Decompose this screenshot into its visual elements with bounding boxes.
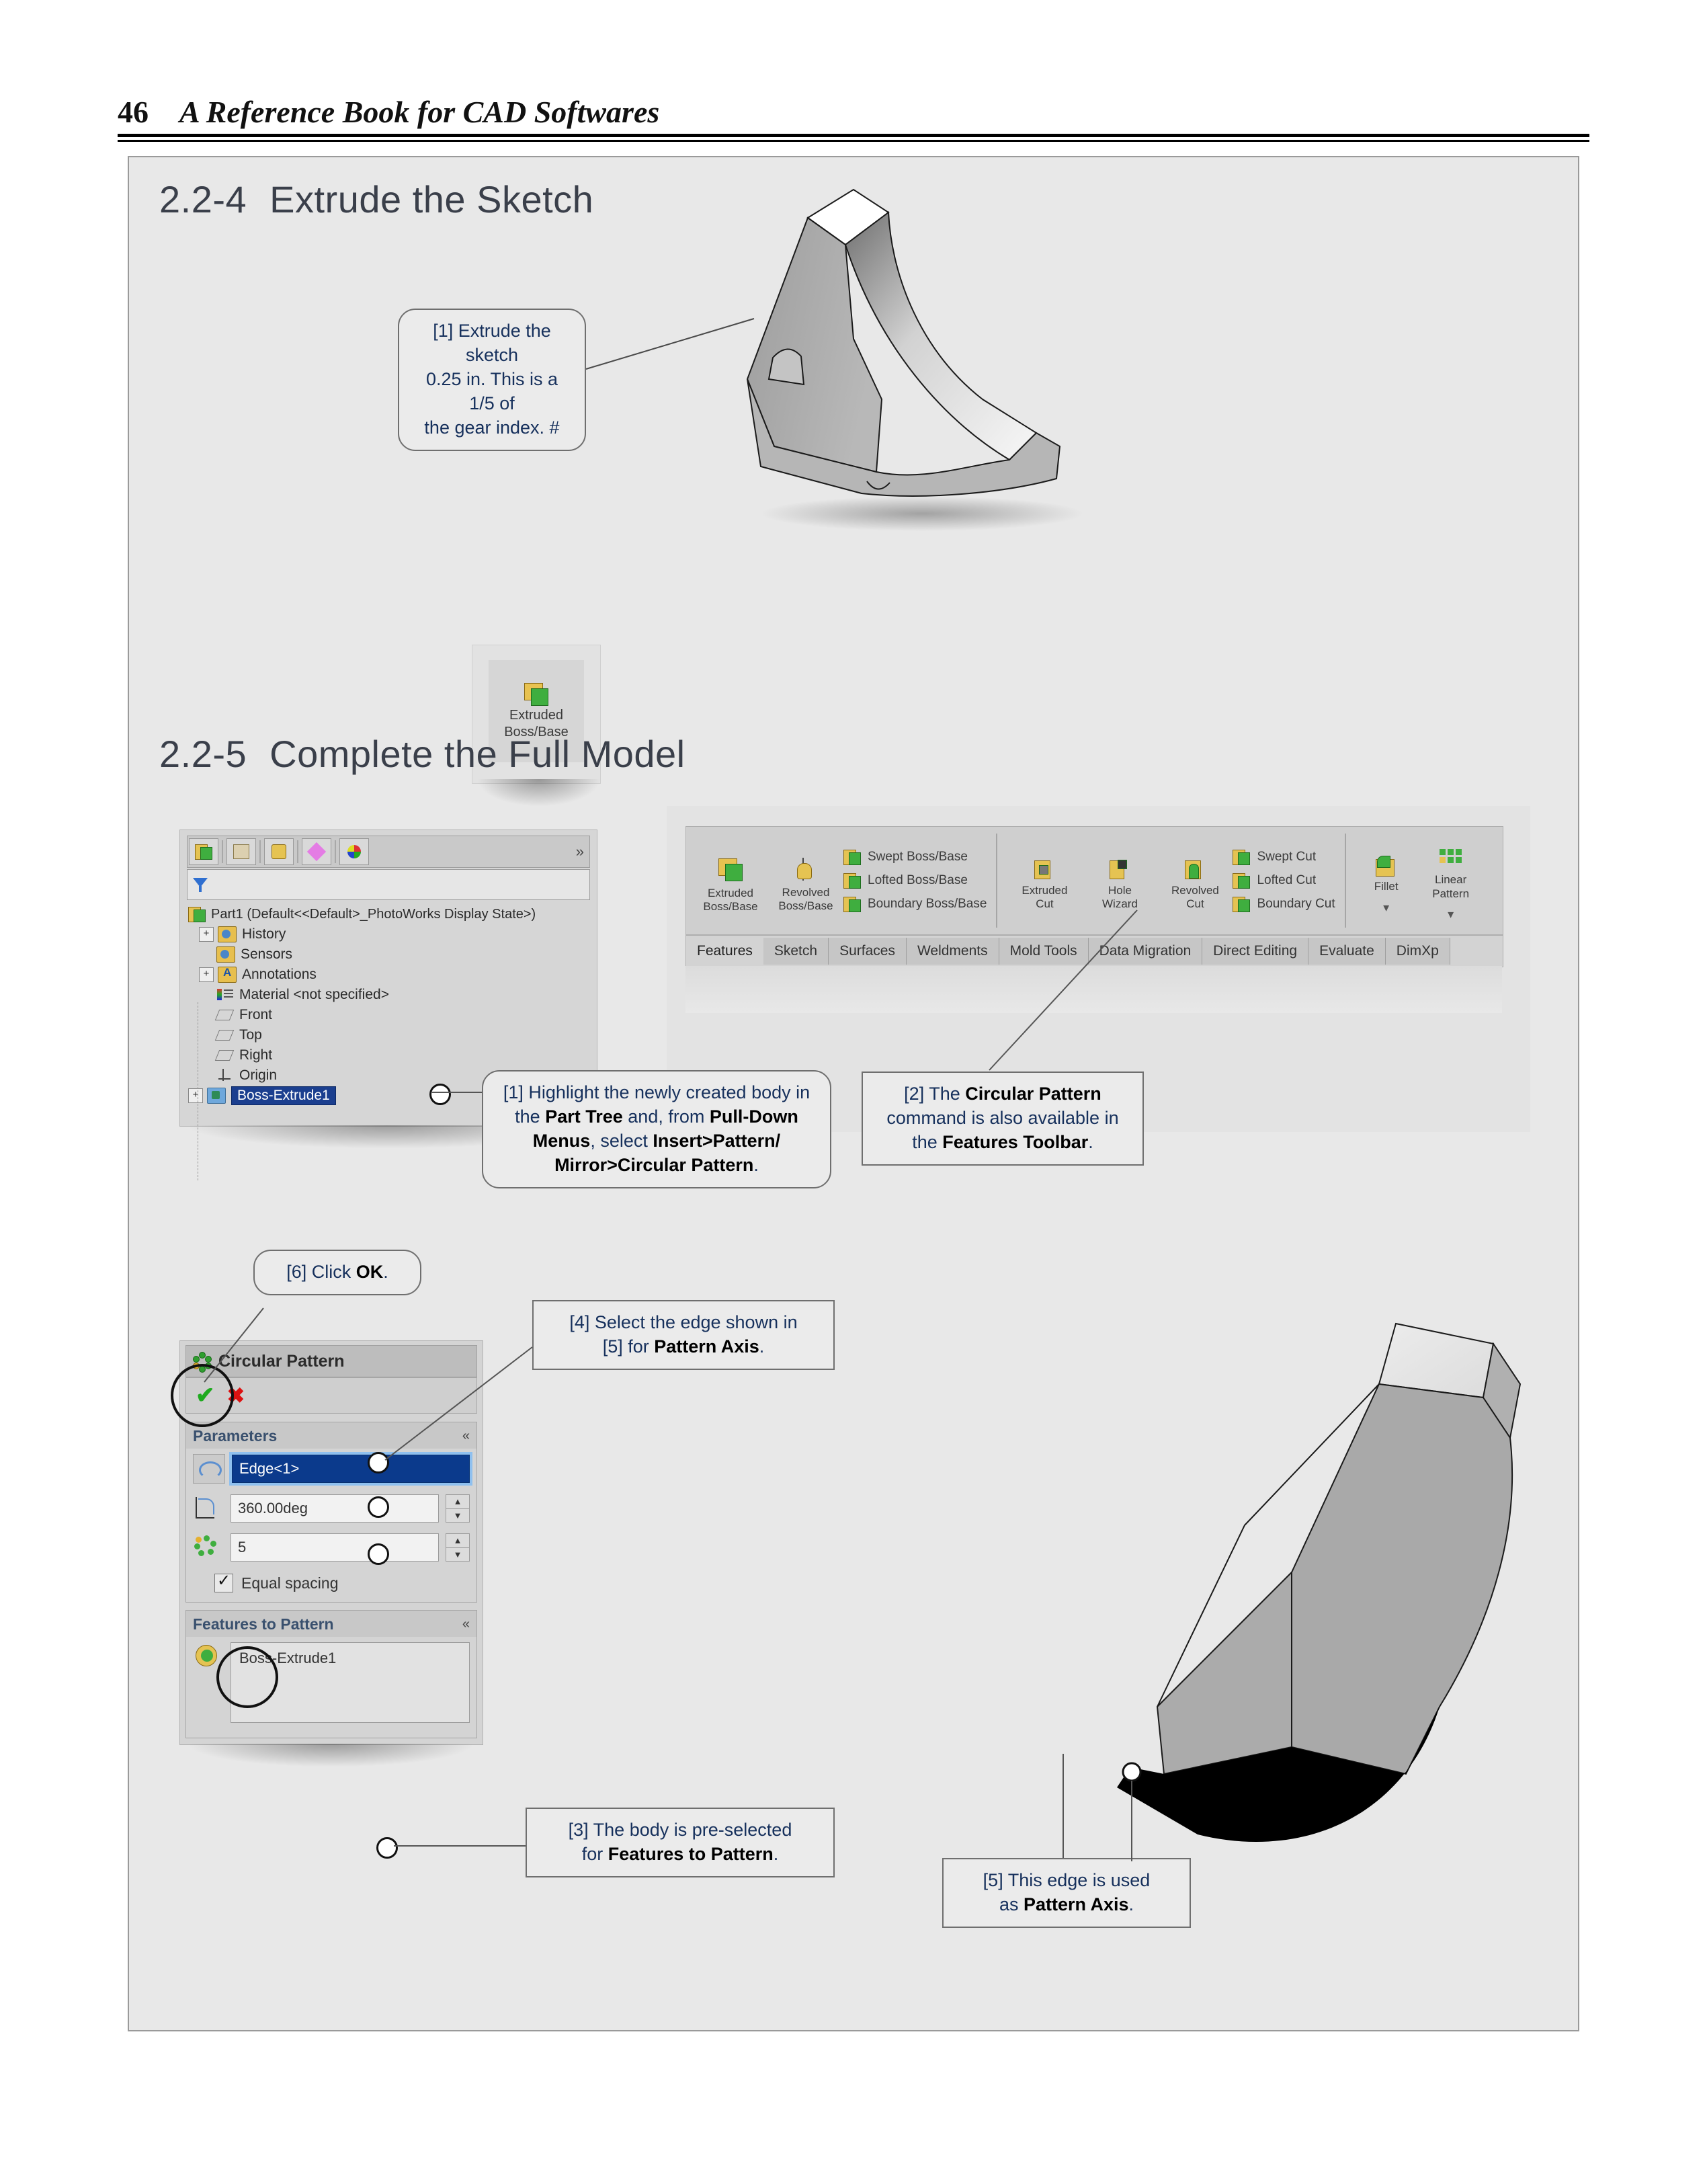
tree-root-label: Part1 (Default<<Default>_PhotoWorks Disp… [211, 907, 536, 922]
ribbon-lofted-boss-base[interactable]: Lofted Boss/Base [843, 873, 987, 889]
tree-item-label: Material <not specified> [239, 987, 389, 1003]
ribbon-label-2: Cut [1186, 897, 1204, 910]
hotspot-feature-item [376, 1837, 398, 1859]
ribbon-label-1: Hole [1108, 884, 1132, 897]
page-number: 46 [118, 94, 149, 130]
instances-row[interactable]: 5 ▲▼ [186, 1528, 476, 1567]
tree-item-label: Origin [239, 1067, 277, 1084]
ribbon-revolved-boss-base[interactable]: Revolved Boss/Base [768, 848, 843, 914]
equal-spacing-label: Equal spacing [241, 1574, 339, 1592]
pattern-axis-row[interactable]: Edge<1> [186, 1449, 476, 1489]
angle-field[interactable]: 360.00deg [231, 1494, 439, 1523]
boss-extrude-icon [207, 1088, 226, 1104]
ribbon-small-column-boss: Swept Boss/Base Lofted Boss/Base Boundar… [843, 845, 987, 917]
feature-tree-filter[interactable] [187, 869, 590, 900]
hotspot-angle-field [368, 1496, 389, 1518]
ribbon-swept-cut[interactable]: Swept Cut [1233, 849, 1335, 866]
fillet-icon [1376, 856, 1397, 876]
extruded-boss-base-icon [717, 857, 744, 883]
property-manager-title: Circular Pattern [218, 1352, 345, 1371]
header-rule [118, 134, 1589, 142]
section-number: 2.2-4 [159, 178, 247, 220]
tab-data-migration[interactable]: Data Migration [1089, 938, 1203, 965]
section-title-2: Complete the Full Model [269, 733, 685, 775]
ribbon-label-1: Extruded [1022, 884, 1067, 897]
ribbon-extruded-cut[interactable]: Extruded Cut [1007, 850, 1082, 912]
dimxpert-icon[interactable] [302, 838, 331, 865]
page-header: 46 A Reference Book for CAD Softwares [118, 94, 1589, 142]
callout-line: [1] Highlight the newly created body in [503, 1082, 810, 1102]
callout-line-2: 0.25 in. This is a 1/5 of [411, 368, 573, 416]
hotspot-boss-extrude1 [429, 1084, 451, 1105]
tree-item-label: Annotations [242, 967, 317, 983]
instances-field[interactable]: 5 [231, 1533, 439, 1562]
tree-item-sensors[interactable]: Sensors [199, 944, 591, 965]
equal-spacing-row[interactable]: Equal spacing [186, 1567, 476, 1601]
ribbon-label-2: Boss/Base [703, 900, 757, 913]
collapse-caret-icon-2[interactable]: « [462, 1617, 470, 1632]
ribbon-group-boss: Extruded Boss/Base Revolved Boss/Base [686, 827, 993, 934]
parameters-section-header[interactable]: Parameters « [185, 1422, 477, 1450]
display-manager-icon[interactable] [339, 838, 369, 865]
tab-dimxpert[interactable]: DimXp [1386, 938, 1450, 965]
lofted-boss-base-icon [843, 873, 861, 889]
part-icon [188, 906, 206, 923]
tree-item-annotations[interactable]: + Annotations [199, 965, 591, 985]
ribbon-small-label: Lofted Boss/Base [868, 873, 968, 888]
callout-line: command is also available in [875, 1106, 1130, 1131]
tab-features[interactable]: Features [686, 938, 763, 965]
ribbon-group-pattern: Fillet ▾ Linear Pattern ▾ [1349, 827, 1491, 934]
tree-item-history[interactable]: + History [199, 924, 591, 944]
model-extruded-gear-tooth [720, 177, 1137, 540]
ribbon-small-label: Lofted Cut [1257, 873, 1316, 888]
angle-row[interactable]: 360.00deg ▲▼ [186, 1489, 476, 1528]
callout-select-edge: [4] Select the edge shown in [5] for Pat… [532, 1300, 835, 1370]
tree-item-label: Right [239, 1047, 272, 1063]
callout-line-1: [1] Extrude the sketch [411, 319, 573, 368]
ribbon-shadow-fade [685, 966, 1502, 1013]
section-heading-extrude: 2.2-4Extrude the Sketch [159, 177, 593, 221]
tree-item-label: History [242, 926, 286, 942]
annotations-folder-icon [218, 967, 237, 983]
swept-cut-icon [1233, 849, 1250, 866]
extruded-cut-icon [1034, 860, 1054, 880]
tab-direct-editing[interactable]: Direct Editing [1202, 938, 1308, 965]
tab-surfaces[interactable]: Surfaces [829, 938, 907, 965]
tree-connector-line [198, 1002, 199, 1180]
book-title: A Reference Book for CAD Softwares [179, 94, 659, 130]
parameters-section-body[interactable]: Edge<1> 360.00deg ▲▼ 5 [185, 1449, 477, 1603]
ribbon-label-1: Revolved [782, 886, 830, 899]
ribbon-group-cut: Extruded Cut Hole Wizard Revolved Cut [1000, 827, 1341, 934]
header-row: 46 A Reference Book for CAD Softwares [118, 94, 1589, 130]
ribbon-small-label: Swept Boss/Base [868, 850, 968, 864]
ribbon-label-2: Wizard [1102, 897, 1138, 910]
tab-mold-tools[interactable]: Mold Tools [999, 938, 1089, 965]
callout-highlight-body: [1] Highlight the newly created body in … [482, 1070, 831, 1188]
ribbon-swept-boss-base[interactable]: Swept Boss/Base [843, 849, 987, 866]
plane-icon [216, 1008, 234, 1022]
collapse-caret-icon[interactable]: « [462, 1428, 470, 1444]
plane-icon [216, 1048, 234, 1063]
expand-icon-annotations[interactable]: + [199, 967, 214, 982]
expand-icon-boss-extrude[interactable]: + [188, 1088, 203, 1103]
ribbon-hole-wizard[interactable]: Hole Wizard [1082, 850, 1157, 912]
tree-item-material[interactable]: Material <not specified> [199, 985, 591, 1005]
filter-icon [190, 875, 210, 895]
equal-spacing-checkbox[interactable] [214, 1574, 233, 1592]
hotspot-instances-field [368, 1543, 389, 1565]
ribbon-boundary-boss-base[interactable]: Boundary Boss/Base [843, 896, 987, 913]
features-to-pattern-title: Features to Pattern [193, 1615, 334, 1633]
tree-item-right[interactable]: Right [199, 1045, 591, 1065]
callout-body-preselected: [3] The body is pre-selected for Feature… [526, 1808, 835, 1877]
ribbon-label-1: Extruded [708, 887, 753, 899]
highlight-circle-ok-button [171, 1364, 234, 1427]
boundary-boss-base-icon [843, 896, 861, 913]
toolbar-separator-4 [335, 840, 336, 863]
callout-line: [4] Select the edge shown in [546, 1311, 821, 1335]
extruded-boss-base-icon [523, 682, 550, 707]
fillet-dropdown-icon[interactable]: ▾ [1383, 901, 1389, 915]
pattern-axis-field[interactable]: Edge<1> [232, 1455, 470, 1483]
expand-icon-history[interactable]: + [199, 927, 214, 942]
ribbon-label-1: Fillet [1374, 880, 1399, 893]
hotspot-pattern-axis-field [368, 1452, 389, 1473]
ribbon-separator-1 [996, 834, 997, 928]
ribbon-tab-bar[interactable]: Features Sketch Surfaces Weldments Mold … [685, 935, 1503, 967]
section-title: Extrude the Sketch [269, 178, 593, 220]
callout-circular-pattern-toolbar: [2] The Circular Pattern command is also… [862, 1071, 1144, 1166]
callout-line: [5] This edge is used [956, 1869, 1177, 1893]
tab-weldments[interactable]: Weldments [907, 938, 999, 965]
ribbon-boundary-cut[interactable]: Boundary Cut [1233, 896, 1335, 913]
boundary-cut-icon [1233, 896, 1250, 913]
tree-item-label-selected: Boss-Extrude1 [231, 1086, 336, 1105]
ribbon-small-label: Boundary Cut [1257, 897, 1335, 912]
ribbon-small-label: Swept Cut [1257, 850, 1316, 864]
ribbon-fillet[interactable]: Fillet ▾ [1356, 846, 1417, 914]
tree-root-item[interactable]: Part1 (Default<<Default>_PhotoWorks Disp… [188, 904, 591, 924]
ribbon-label-1: Linear [1435, 873, 1466, 886]
revolved-cut-icon [1185, 860, 1205, 880]
angle-icon [193, 1494, 224, 1523]
tree-item-label: Front [239, 1007, 272, 1023]
hole-wizard-icon [1110, 860, 1130, 880]
extrude-button-shadow [478, 779, 599, 806]
content-frame: 2.2-4Extrude the Sketch [1] Extr [128, 156, 1579, 2031]
pattern-axis-icon [193, 1454, 225, 1484]
ribbon-label-2: Boss/Base [778, 899, 833, 912]
features-to-pattern-section-header[interactable]: Features to Pattern « [185, 1610, 477, 1638]
tree-item-top[interactable]: Top [199, 1025, 591, 1045]
instance-count-icon [193, 1533, 224, 1562]
instances-spinner[interactable]: ▲▼ [446, 1533, 470, 1562]
part-tree-icon[interactable] [189, 838, 218, 865]
property-manager-title-bar: Circular Pattern [185, 1345, 477, 1377]
ribbon-label-2: Cut [1036, 897, 1053, 910]
callout-line: [3] The body is pre-selected [539, 1818, 821, 1843]
ribbon-small-column-cut: Swept Cut Lofted Cut Boundary Cut [1233, 845, 1335, 917]
ribbon-separator-2 [1345, 834, 1346, 928]
origin-icon [216, 1068, 234, 1083]
callout-click-ok: [6] Click OK. [253, 1250, 421, 1295]
section-heading-full-model: 2.2-5Complete the Full Model [159, 732, 685, 776]
toolbar-separator-2 [259, 840, 261, 863]
toolbar-separator-3 [297, 840, 298, 863]
extrude-button-label-1: Extruded [509, 708, 563, 723]
plane-icon [216, 1028, 234, 1043]
tree-item-label: Top [239, 1027, 262, 1043]
material-icon [216, 987, 234, 1002]
swept-boss-base-icon [843, 849, 861, 866]
features-ribbon[interactable]: Extruded Boss/Base Revolved Boss/Base [685, 826, 1503, 935]
highlight-circle-equal-spacing [216, 1646, 278, 1708]
callout-line-3: the gear index. # [411, 416, 573, 440]
callout-pattern-axis-edge: [5] This edge is used as Pattern Axis. [942, 1858, 1191, 1928]
history-folder-icon [218, 926, 237, 942]
linear-pattern-dropdown-icon[interactable]: ▾ [1448, 907, 1454, 922]
tab-sketch[interactable]: Sketch [763, 938, 829, 965]
ribbon-small-label: Boundary Boss/Base [868, 897, 987, 912]
toolbar-overflow-chevron[interactable]: » [576, 843, 584, 860]
section-number-2: 2.2-5 [159, 733, 247, 775]
property-manager-icon[interactable] [226, 838, 256, 865]
configuration-manager-icon[interactable] [264, 838, 294, 865]
revolved-boss-base-icon [794, 858, 817, 882]
parameters-title: Parameters [193, 1427, 277, 1445]
tree-item-front[interactable]: Front [199, 1005, 591, 1025]
ribbon-extruded-boss-base[interactable]: Extruded Boss/Base [693, 848, 768, 914]
tab-evaluate[interactable]: Evaluate [1308, 938, 1386, 965]
sensors-folder-icon [216, 946, 235, 963]
ribbon-label-2: Pattern [1432, 887, 1469, 900]
ribbon-revolved-cut[interactable]: Revolved Cut [1157, 850, 1233, 912]
callout-extrude-sketch: [1] Extrude the sketch 0.25 in. This is … [398, 309, 586, 451]
ribbon-lofted-cut[interactable]: Lofted Cut [1233, 873, 1335, 889]
ribbon-linear-pattern[interactable]: Linear Pattern ▾ [1417, 840, 1485, 922]
angle-spinner[interactable]: ▲▼ [446, 1494, 470, 1523]
tree-item-label: Sensors [241, 946, 292, 963]
lofted-cut-icon [1233, 873, 1250, 889]
pm-panel-shadow [190, 1744, 472, 1767]
ribbon-label-1: Revolved [1171, 884, 1219, 897]
feature-tree-toolbar[interactable]: » [187, 836, 590, 868]
linear-pattern-icon [1440, 849, 1462, 869]
toolbar-separator [222, 840, 223, 863]
